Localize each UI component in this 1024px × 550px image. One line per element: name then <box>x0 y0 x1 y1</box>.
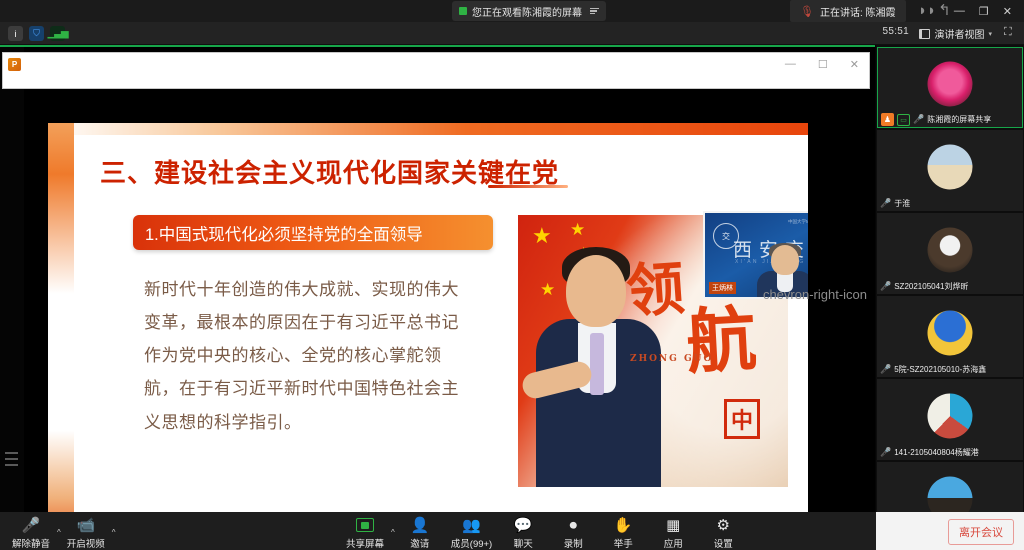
participants-button[interactable]: 👥 成员(99+) <box>445 514 498 550</box>
video-options-caret[interactable]: ^ <box>112 528 116 537</box>
avatar <box>928 228 973 273</box>
raise-hand-label: 举手 <box>614 536 633 550</box>
av-controls: 🎤 解除静音 ^ 📹 开启视频 ^ <box>6 514 116 550</box>
video-corner-text: 中国大学MOOC国家精品课程 <box>788 219 808 226</box>
start-video-label: 开启视频 <box>67 536 105 550</box>
more-options-icon[interactable] <box>590 8 599 15</box>
participant-name: 5院-SZ202105010-苏海鑫 <box>894 364 986 375</box>
share-screen-label: 共享屏幕 <box>346 536 384 550</box>
chat-button[interactable]: 💬 聊天 <box>498 514 548 550</box>
presenter-video-inset: 交 中国大学MOOC国家精品课程 西安交通大学 XI'AN JIAOTONG U… <box>703 211 808 299</box>
chat-label: 聊天 <box>514 536 533 550</box>
microphone-icon: 🎤 <box>913 114 924 125</box>
shared-screen-area: P — ☐ ✕ 王炳林 三、建设社会主义现代化国家关键在党 1.中国式现代化必须… <box>0 45 875 512</box>
avatar <box>928 62 973 107</box>
viewing-screen-label: 您正在观看陈湘霞的屏幕 <box>472 4 582 19</box>
calligraphy-seal: 中 <box>724 399 760 439</box>
view-mode-label: 演讲者视图 <box>934 26 984 41</box>
maximize-button[interactable]: ❐ <box>979 5 989 18</box>
audio-wave-icons: ◗◗ ↰ <box>918 1 951 19</box>
participant-tile[interactable]: 🎤 5院-SZ202105010-苏海鑫 <box>877 296 1023 377</box>
apps-button[interactable]: ▦ 应用 <box>648 514 698 550</box>
participant-footer: 🎤 141-2105040804杨耀港 <box>877 445 979 460</box>
participant-name: 141-2105040804杨耀港 <box>894 447 979 458</box>
presenter-name-tag: 王炳林 <box>709 282 736 294</box>
main-controls: 共享屏幕 ^ 👤 邀请 👥 成员(99+) 💬 聊天 ⏺ 录制 ✋ 举手 <box>340 514 748 550</box>
shared-close-button[interactable]: ✕ <box>850 58 859 71</box>
shared-left-rail <box>0 47 24 512</box>
flag-star-icon: ★ <box>570 221 585 238</box>
leave-meeting-bar: 离开会议 <box>876 512 1024 550</box>
participant-name: SZ202105041刘烨昕 <box>894 281 968 292</box>
presentation-slide: 王炳林 三、建设社会主义现代化国家关键在党 1.中国式现代化必须坚持党的全面领导… <box>48 123 808 550</box>
minimize-button[interactable]: — <box>954 5 965 17</box>
video-off-icon: 📹 <box>76 516 95 534</box>
slide-section-banner: 1.中国式现代化必须坚持党的全面领导 <box>133 215 493 250</box>
participants-strip[interactable]: ♟ ▭ 🎤 陈湘霞的屏幕共享 🎤 于淮 🎤 SZ202105041刘烨昕 <box>876 45 1024 512</box>
speaker-view-icon <box>919 29 930 39</box>
record-button[interactable]: ⏺ 录制 <box>548 514 598 550</box>
leave-meeting-button[interactable]: 离开会议 <box>948 519 1014 545</box>
microphone-muted-icon: 🎤 <box>22 516 41 534</box>
raise-hand-icon: ✋ <box>614 516 633 534</box>
shared-window-controls: — ☐ ✕ <box>785 58 859 71</box>
invite-button[interactable]: 👤 邀请 <box>395 514 445 550</box>
participant-footer: 🎤 SZ202105041刘烨昕 <box>877 279 968 294</box>
active-speaker-label: 正在讲话: 陈湘霞 <box>820 4 896 19</box>
microphone-muted-icon: 🎤 <box>880 198 891 209</box>
signal-bars-icon[interactable]: ▁▃▅ <box>50 26 65 41</box>
participant-name: 陈湘霞的屏幕共享 <box>927 114 991 125</box>
apps-grid-icon: ▦ <box>666 516 680 534</box>
screen-share-icon: ▭ <box>897 114 910 126</box>
zoom-meeting-window: 您正在观看陈湘霞的屏幕 🎙 正在讲话: 陈湘霞 ◗◗ ↰ — ❐ ✕ i ⛉ ▁… <box>0 0 1024 550</box>
start-video-button[interactable]: 📹 开启视频 <box>61 514 111 550</box>
meeting-status-bar: i ⛉ ▁▃▅ 55:51 演讲者视图 ▾ ⛶ <box>0 22 1024 45</box>
shared-application-window-titlebar: P — ☐ ✕ <box>2 52 870 89</box>
status-icons: i ⛉ ▁▃▅ <box>8 26 65 41</box>
sound-wave-icon: ◗◗ <box>918 2 936 19</box>
slide-body-text: 新时代十年创造的伟大成就、实现的伟大变革，最根本的原因在于有习近平总书记作为党中… <box>144 273 474 439</box>
list-menu-icon[interactable] <box>5 452 21 466</box>
slide-left-decoration <box>48 123 74 550</box>
raise-hand-button[interactable]: ✋ 举手 <box>598 514 648 550</box>
meeting-timer: 55:51 <box>882 26 909 37</box>
chevron-down-icon: ▾ <box>988 30 992 38</box>
window-controls: — ❐ ✕ <box>954 0 1020 22</box>
calligraphy-pinyin: ZHONG GUO <box>630 353 713 367</box>
microphone-muted-icon: 🎤 <box>880 447 891 458</box>
slide-top-decoration <box>48 123 808 135</box>
powerpoint-icon: P <box>8 58 21 71</box>
share-screen-icon <box>356 516 374 534</box>
participant-footer: ♟ ▭ 🎤 陈湘霞的屏幕共享 <box>878 112 991 127</box>
avatar <box>928 311 973 356</box>
green-square-icon <box>459 7 467 15</box>
chevron-right-icon[interactable]: chevron-right-icon <box>763 287 867 302</box>
participants-icon: 👥 <box>462 516 481 534</box>
unmute-label: 解除静音 <box>12 536 50 550</box>
settings-label: 设置 <box>714 536 733 550</box>
microphone-icon: 🎙 <box>800 5 814 18</box>
participant-tile[interactable]: 🎤 141-2105040804杨耀港 <box>877 379 1023 460</box>
calligraphy-char-1: 领 <box>623 241 687 329</box>
participant-name: 于淮 <box>894 198 910 209</box>
active-speaker-banner: 🎙 正在讲话: 陈湘霞 <box>790 0 906 22</box>
shared-maximize-button[interactable]: ☐ <box>818 58 828 71</box>
host-badge-icon: ♟ <box>881 113 894 126</box>
microphone-muted-icon: 🎤 <box>880 281 891 292</box>
viewing-screen-banner[interactable]: 您正在观看陈湘霞的屏幕 <box>452 1 606 21</box>
fullscreen-icon[interactable]: ⛶ <box>1004 27 1016 39</box>
participants-label: 成员(99+) <box>451 536 492 550</box>
apps-label: 应用 <box>664 536 683 550</box>
invite-person-icon: 👤 <box>410 516 429 534</box>
participant-footer: 🎤 于淮 <box>877 196 910 211</box>
slide-title-underline <box>488 185 568 188</box>
participant-tile[interactable]: 🎤 于淮 <box>877 130 1023 211</box>
avatar <box>928 394 973 439</box>
participant-tile[interactable]: ♟ ▭ 🎤 陈湘霞的屏幕共享 <box>877 47 1023 128</box>
record-label: 录制 <box>564 536 583 550</box>
view-mode-selector[interactable]: 演讲者视图 ▾ <box>919 25 992 42</box>
microphone-muted-icon: 🎤 <box>880 364 891 375</box>
settings-button[interactable]: ⚙ 设置 <box>698 514 748 550</box>
invite-label: 邀请 <box>410 536 429 550</box>
gear-icon: ⚙ <box>717 516 730 534</box>
participant-tile[interactable]: 🎤 SZ202105041刘烨昕 <box>877 213 1023 294</box>
share-screen-button[interactable]: 共享屏幕 <box>340 514 390 550</box>
record-circle-icon: ⏺ <box>569 516 577 534</box>
shared-minimize-button[interactable]: — <box>785 58 796 71</box>
info-icon[interactable]: i <box>8 26 23 41</box>
unmute-button[interactable]: 🎤 解除静音 <box>6 514 56 550</box>
shield-icon[interactable]: ⛉ <box>29 26 44 41</box>
title-bar: 您正在观看陈湘霞的屏幕 🎙 正在讲话: 陈湘霞 ◗◗ ↰ — ❐ ✕ <box>0 0 1024 22</box>
avatar <box>928 145 973 190</box>
participant-footer: 🎤 5院-SZ202105010-苏海鑫 <box>877 362 986 377</box>
chat-bubble-icon: 💬 <box>514 516 533 534</box>
reply-arrow-icon: ↰ <box>938 1 951 19</box>
close-button[interactable]: ✕ <box>1003 5 1012 18</box>
meeting-toolbar: 🎤 解除静音 ^ 📹 开启视频 ^ 共享屏幕 ^ 👤 邀请 👥 成员(99+ <box>0 512 1024 550</box>
